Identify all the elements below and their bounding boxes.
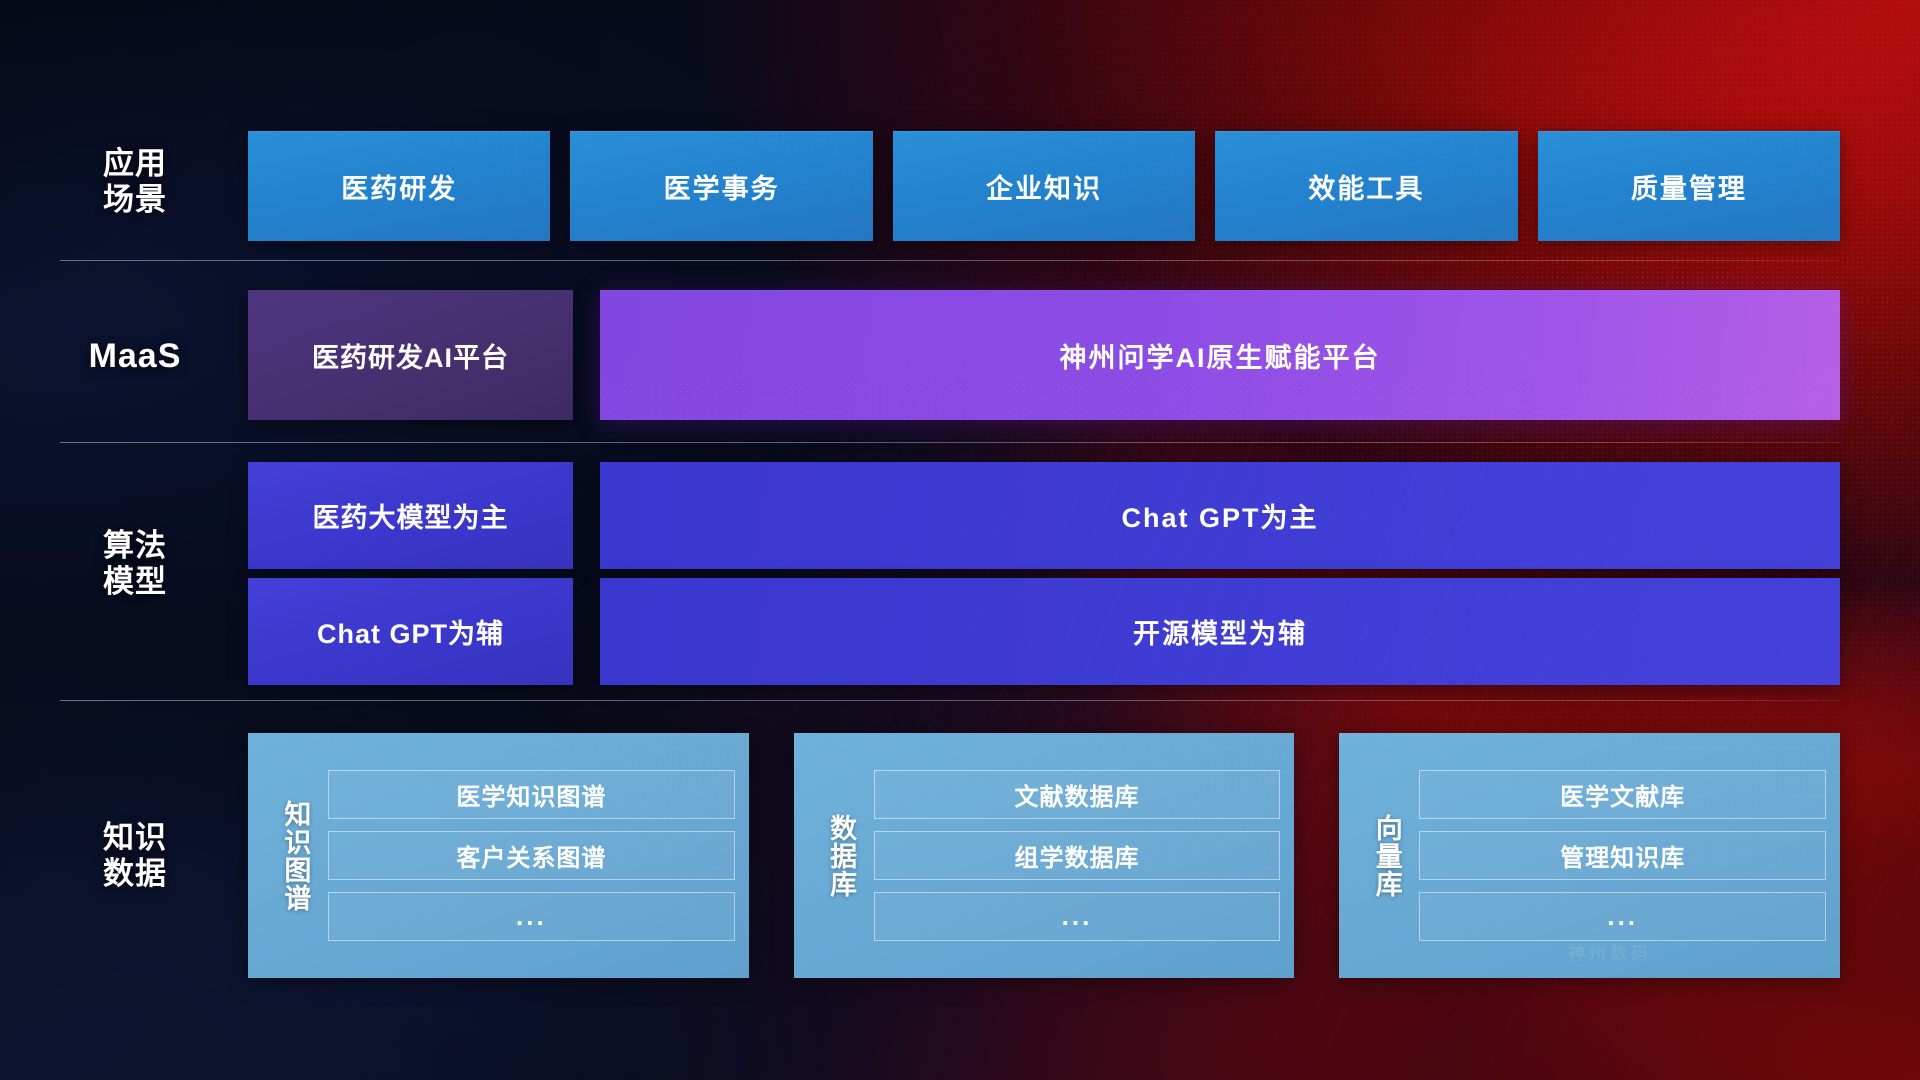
architecture-diagram: 应用场景 医药研发 医学事务 企业知识 效能工具 质量管理 MaaS 医药研发A…	[0, 0, 1920, 1080]
knowledge-item-more[interactable]: ...	[874, 892, 1281, 941]
divider-after-algorithm-model	[60, 700, 1840, 701]
algorithm-label: 医药大模型为主	[313, 496, 509, 535]
scenario-card-4[interactable]: 效能工具	[1215, 131, 1517, 241]
scenario-card-2[interactable]: 医学事务	[570, 131, 872, 241]
scenario-card-label: 医药研发	[341, 167, 457, 206]
knowledge-panel-side-label: 向量库	[1353, 747, 1419, 964]
knowledge-panel-side-label: 数据库	[808, 747, 874, 964]
algorithm-label: 开源模型为辅	[1133, 612, 1307, 651]
algorithm-label: Chat GPT为辅	[317, 612, 504, 651]
knowledge-item-more[interactable]: ...	[1419, 892, 1826, 941]
algorithm-bar-primary-right[interactable]: Chat GPT为主	[600, 462, 1840, 569]
knowledge-item[interactable]: 医学文献库	[1419, 770, 1826, 819]
maas-platform-card-left[interactable]: 医药研发AI平台	[248, 290, 573, 420]
row-label-algorithm-model: 算法模型	[60, 528, 210, 600]
maas-right-label: 神州问学AI原生赋能平台	[1060, 336, 1381, 375]
knowledge-item[interactable]: 文献数据库	[874, 770, 1281, 819]
algorithm-card-primary-left[interactable]: 医药大模型为主	[248, 462, 573, 569]
maas-left-label: 医药研发AI平台	[312, 336, 509, 375]
knowledge-panel-database[interactable]: 数据库 文献数据库 组学数据库 ...	[794, 733, 1295, 978]
algorithm-label: Chat GPT为主	[1121, 496, 1318, 535]
row-label-knowledge-data: 知识数据	[60, 820, 210, 892]
row-label-application-scenario: 应用场景	[60, 146, 210, 218]
knowledge-panel-items: 医学文献库 管理知识库 ...	[1419, 747, 1826, 964]
algorithm-bar-secondary-right[interactable]: 开源模型为辅	[600, 578, 1840, 685]
divider-after-maas	[60, 442, 1840, 443]
knowledge-item[interactable]: 管理知识库	[1419, 831, 1826, 880]
knowledge-item[interactable]: 组学数据库	[874, 831, 1281, 880]
scenario-card-3[interactable]: 企业知识	[893, 131, 1195, 241]
knowledge-panel-items: 文献数据库 组学数据库 ...	[874, 747, 1281, 964]
knowledge-item[interactable]: 客户关系图谱	[328, 831, 735, 880]
knowledge-panel-side-label: 知识图谱	[262, 747, 328, 964]
application-scenario-track: 医药研发 医学事务 企业知识 效能工具 质量管理	[248, 131, 1840, 241]
scenario-card-label: 企业知识	[986, 167, 1102, 206]
knowledge-item[interactable]: 医学知识图谱	[328, 770, 735, 819]
scenario-card-label: 效能工具	[1308, 167, 1424, 206]
knowledge-panel-items: 医学知识图谱 客户关系图谱 ...	[328, 747, 735, 964]
knowledge-panel-knowledge-graph[interactable]: 知识图谱 医学知识图谱 客户关系图谱 ...	[248, 733, 749, 978]
knowledge-item-more[interactable]: ...	[328, 892, 735, 941]
scenario-card-1[interactable]: 医药研发	[248, 131, 550, 241]
divider-after-application-scenario	[60, 260, 1840, 261]
scenario-card-label: 医学事务	[664, 167, 780, 206]
algorithm-card-secondary-left[interactable]: Chat GPT为辅	[248, 578, 573, 685]
scenario-card-label: 质量管理	[1631, 167, 1747, 206]
scenario-card-5[interactable]: 质量管理	[1538, 131, 1840, 241]
row-label-maas: MaaS	[60, 337, 210, 376]
maas-platform-bar[interactable]: 神州问学AI原生赋能平台	[600, 290, 1840, 420]
watermark: 神州数码	[1568, 939, 1652, 964]
